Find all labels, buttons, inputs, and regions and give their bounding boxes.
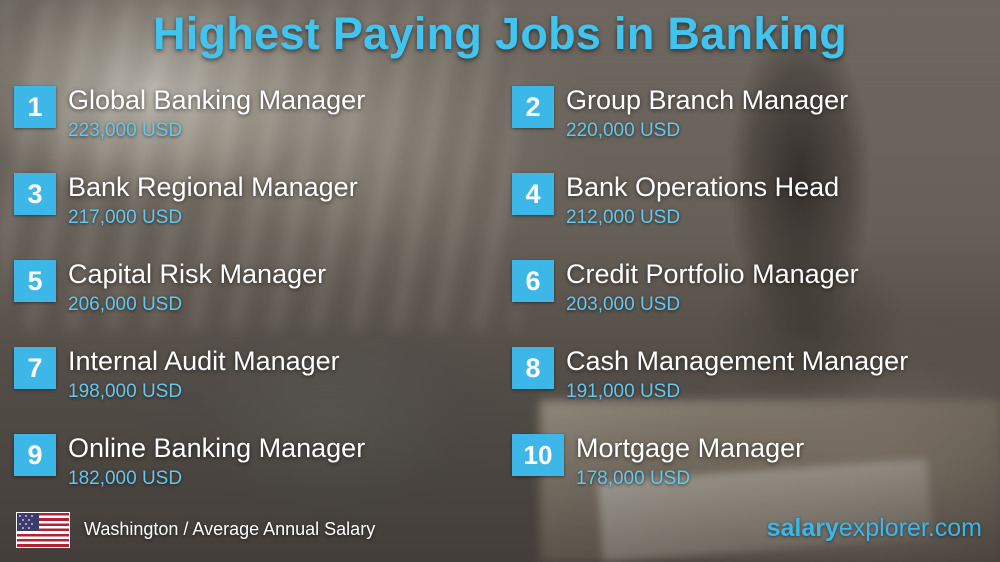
salary-value: 203,000 USD (566, 294, 859, 316)
rank-badge: 9 (14, 434, 56, 476)
list-item: 2 Group Branch Manager 220,000 USD (512, 84, 998, 170)
salary-value: 220,000 USD (566, 120, 848, 142)
rank-badge: 2 (512, 86, 554, 128)
job-list: 1 Global Banking Manager 223,000 USD 2 G… (0, 84, 1000, 496)
job-title: Bank Operations Head (566, 171, 839, 203)
salary-value: 212,000 USD (566, 207, 839, 229)
footer: Washington / Average Annual Salary salar… (0, 500, 1000, 562)
list-item-text: Bank Regional Manager 217,000 USD (68, 171, 358, 229)
list-item: 8 Cash Management Manager 191,000 USD (512, 345, 998, 431)
list-item-text: Bank Operations Head 212,000 USD (566, 171, 839, 229)
list-item: 1 Global Banking Manager 223,000 USD (14, 84, 494, 170)
job-title: Mortgage Manager (576, 432, 804, 464)
infographic-page: Highest Paying Jobs in Banking 1 Global … (0, 0, 1000, 562)
job-title: Credit Portfolio Manager (566, 258, 859, 290)
list-item-text: Global Banking Manager 223,000 USD (68, 84, 365, 142)
salary-value: 178,000 USD (576, 468, 804, 490)
rank-badge: 10 (512, 434, 564, 476)
salary-value: 191,000 USD (566, 381, 908, 403)
location-label: Washington / Average Annual Salary (84, 519, 375, 540)
list-item: 6 Credit Portfolio Manager 203,000 USD (512, 258, 998, 344)
job-title: Capital Risk Manager (68, 258, 326, 290)
brand-name-normal: explorer (839, 514, 928, 542)
job-title: Group Branch Manager (566, 84, 848, 116)
list-item-text: Cash Management Manager 191,000 USD (566, 345, 908, 403)
list-item: 5 Capital Risk Manager 206,000 USD (14, 258, 494, 344)
job-title: Online Banking Manager (68, 432, 365, 464)
salary-value: 198,000 USD (68, 381, 340, 403)
salary-value: 223,000 USD (68, 120, 365, 142)
rank-badge: 5 (14, 260, 56, 302)
rank-badge: 7 (14, 347, 56, 389)
flag-canton (17, 513, 39, 531)
list-item-text: Capital Risk Manager 206,000 USD (68, 258, 326, 316)
page-title: Highest Paying Jobs in Banking (0, 8, 1000, 60)
job-title: Cash Management Manager (566, 345, 908, 377)
salary-value: 182,000 USD (68, 468, 365, 490)
rank-badge: 6 (512, 260, 554, 302)
us-flag-icon (16, 512, 70, 548)
brand-name-bold: salary (767, 514, 839, 542)
salary-value: 206,000 USD (68, 294, 326, 316)
salary-value: 217,000 USD (68, 207, 358, 229)
rank-badge: 4 (512, 173, 554, 215)
brand-suffix: .com (928, 514, 982, 542)
rank-badge: 8 (512, 347, 554, 389)
list-item-text: Credit Portfolio Manager 203,000 USD (566, 258, 859, 316)
list-item: 4 Bank Operations Head 212,000 USD (512, 171, 998, 257)
rank-badge: 1 (14, 86, 56, 128)
rank-badge: 3 (14, 173, 56, 215)
job-title: Global Banking Manager (68, 84, 365, 116)
list-item: 3 Bank Regional Manager 217,000 USD (14, 171, 494, 257)
job-title: Internal Audit Manager (68, 345, 340, 377)
list-item-text: Mortgage Manager 178,000 USD (576, 432, 804, 490)
list-item-text: Group Branch Manager 220,000 USD (566, 84, 848, 142)
list-item: 7 Internal Audit Manager 198,000 USD (14, 345, 494, 431)
list-item-text: Online Banking Manager 182,000 USD (68, 432, 365, 490)
list-item-text: Internal Audit Manager 198,000 USD (68, 345, 340, 403)
brand-logo[interactable]: salaryexplorer.com (767, 514, 982, 543)
job-title: Bank Regional Manager (68, 171, 358, 203)
